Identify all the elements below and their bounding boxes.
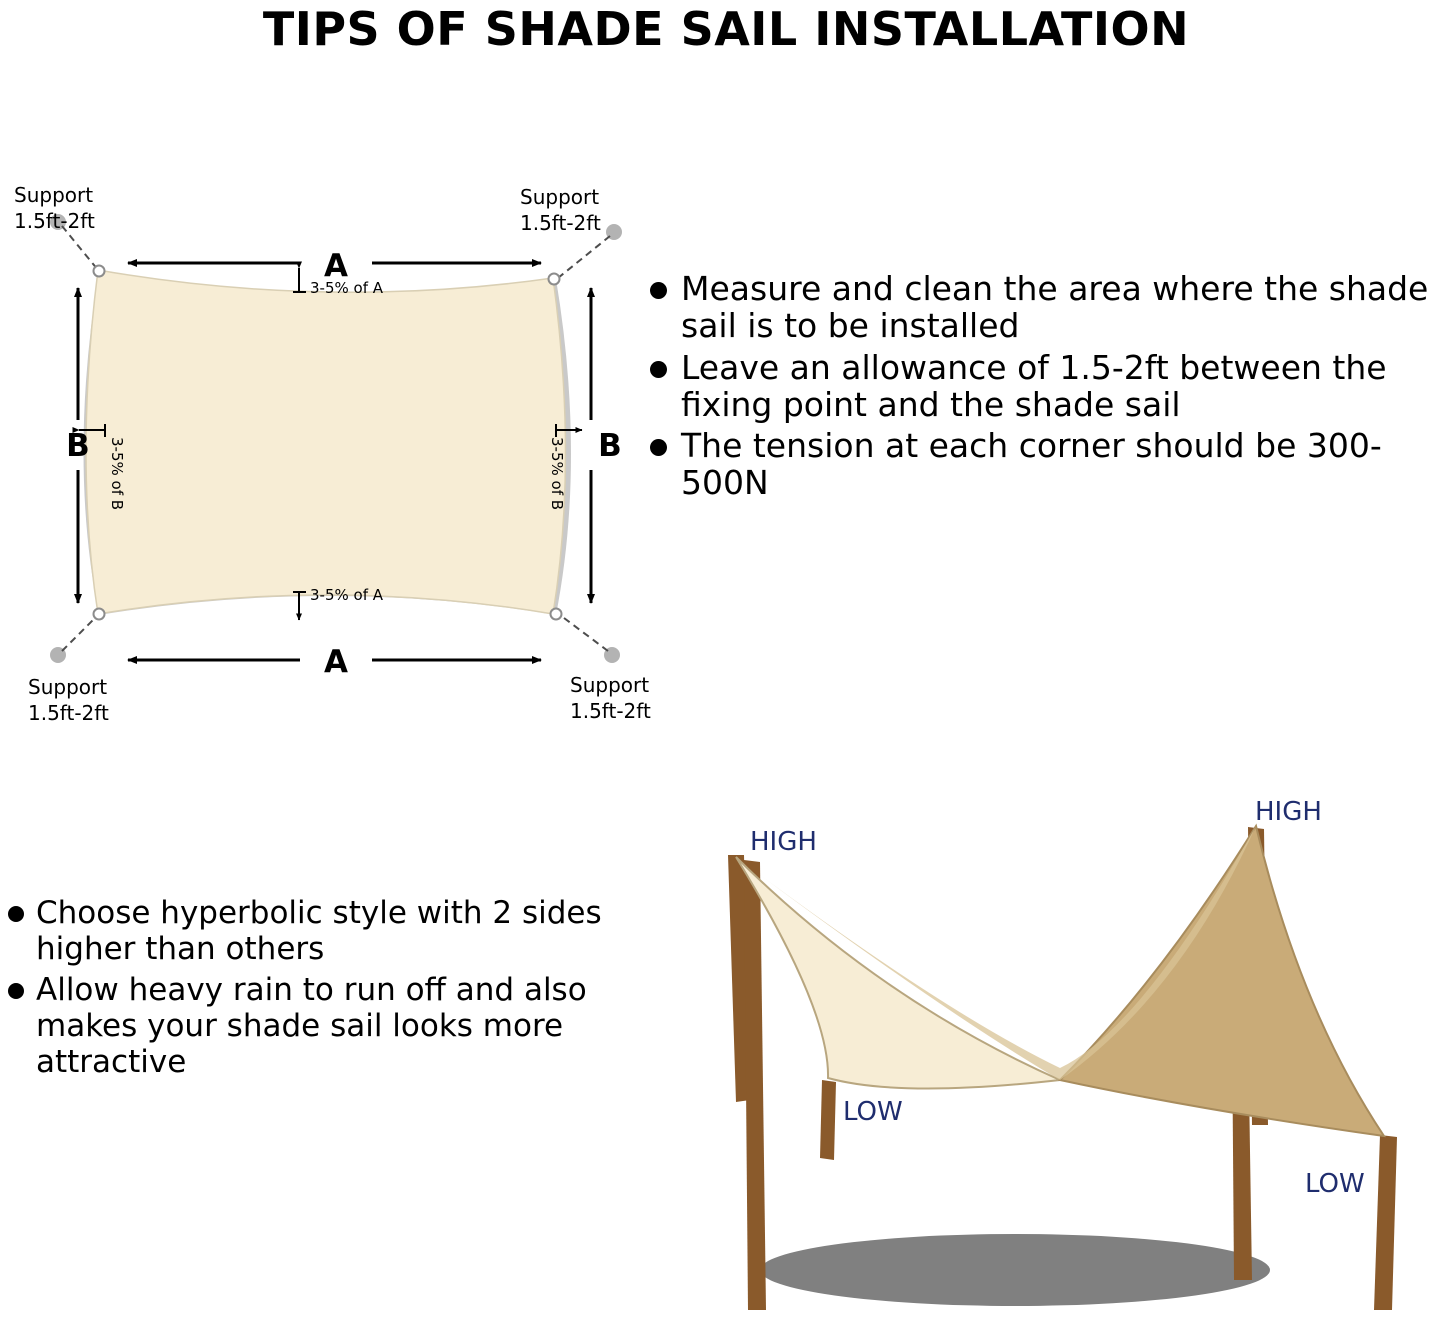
support-label-top-right-line2: 1.5ft-2ft [520,211,601,235]
bullet-dot-icon [8,906,24,922]
rectangular-sail-svg: A A B B 3-5% of A 3-5% of A 3-5% of B 3-… [0,160,660,740]
list-item: The tension at each corner should be 300… [650,427,1450,502]
support-label-top-left-line2: 1.5ft-2ft [14,209,95,233]
curve-label-right: 3-5% of B [548,437,566,510]
sail-body [86,270,566,614]
sail-dark [1060,826,1384,1136]
list-item: Choose hyperbolic style with 2 sides hig… [0,895,640,968]
bullet-dot-icon [650,439,667,456]
label-high-right: HIGH [1255,797,1322,827]
curve-label-bottom: 3-5% of A [310,586,384,604]
dim-label-left-b: B [66,428,90,464]
label-high-left: HIGH [750,827,817,857]
support-line-bottom-right [560,615,608,651]
curve-label-top: 3-5% of A [310,279,384,297]
hyperbolic-sail-svg: HIGH HIGH LOW LOW [640,780,1452,1325]
bullet-dot-icon [650,361,667,378]
rectangular-sail-diagram: A A B B 3-5% of A 3-5% of A 3-5% of B 3-… [0,160,660,740]
bullet-text: The tension at each corner should be 300… [681,427,1441,502]
label-low-right: LOW [1305,1169,1365,1199]
bottom-bullet-list: Choose hyperbolic style with 2 sides hig… [0,895,640,1084]
list-item: Leave an allowance of 1.5-2ft between th… [650,349,1450,424]
dim-label-bottom-a: A [324,644,348,680]
curve-label-left: 3-5% of B [108,437,126,510]
list-item: Allow heavy rain to run off and also mak… [0,972,640,1081]
post-low-right [1374,1135,1397,1310]
top-bullet-list: Measure and clean the area where the sha… [650,270,1450,506]
grommet-top-left [94,266,105,277]
bullet-text: Measure and clean the area where the sha… [681,270,1441,345]
list-item: Measure and clean the area where the sha… [650,270,1450,345]
bullet-text: Choose hyperbolic style with 2 sides hig… [36,895,606,968]
post-front-left-ground [744,860,766,1310]
support-label-bottom-right-line2: 1.5ft-2ft [570,699,651,723]
bullet-text: Allow heavy rain to run off and also mak… [36,972,606,1081]
support-label-top-right-line1: Support [520,185,599,209]
hyperbolic-sail-diagram: HIGH HIGH LOW LOW [640,780,1452,1325]
support-line-top-right [558,236,610,278]
bullet-dot-icon [650,282,667,299]
support-label-bottom-left-line1: Support [28,675,107,699]
support-label-bottom-right-line1: Support [570,673,649,697]
grommet-bottom-right [551,609,562,620]
post-low-left [820,1080,836,1160]
support-line-bottom-left [62,615,98,651]
bullet-dot-icon [8,983,24,999]
label-low-left: LOW [843,1097,903,1127]
support-label-bottom-left-line2: 1.5ft-2ft [28,701,109,725]
dim-label-right-b: B [598,428,622,464]
grommet-bottom-left [94,609,105,620]
page-title: TIPS OF SHADE SAIL INSTALLATION [0,2,1452,56]
bullet-text: Leave an allowance of 1.5-2ft between th… [681,349,1441,424]
grommet-top-right [549,274,560,285]
ground-shadow [760,1234,1270,1306]
support-label-top-left-line1: Support [14,183,93,207]
